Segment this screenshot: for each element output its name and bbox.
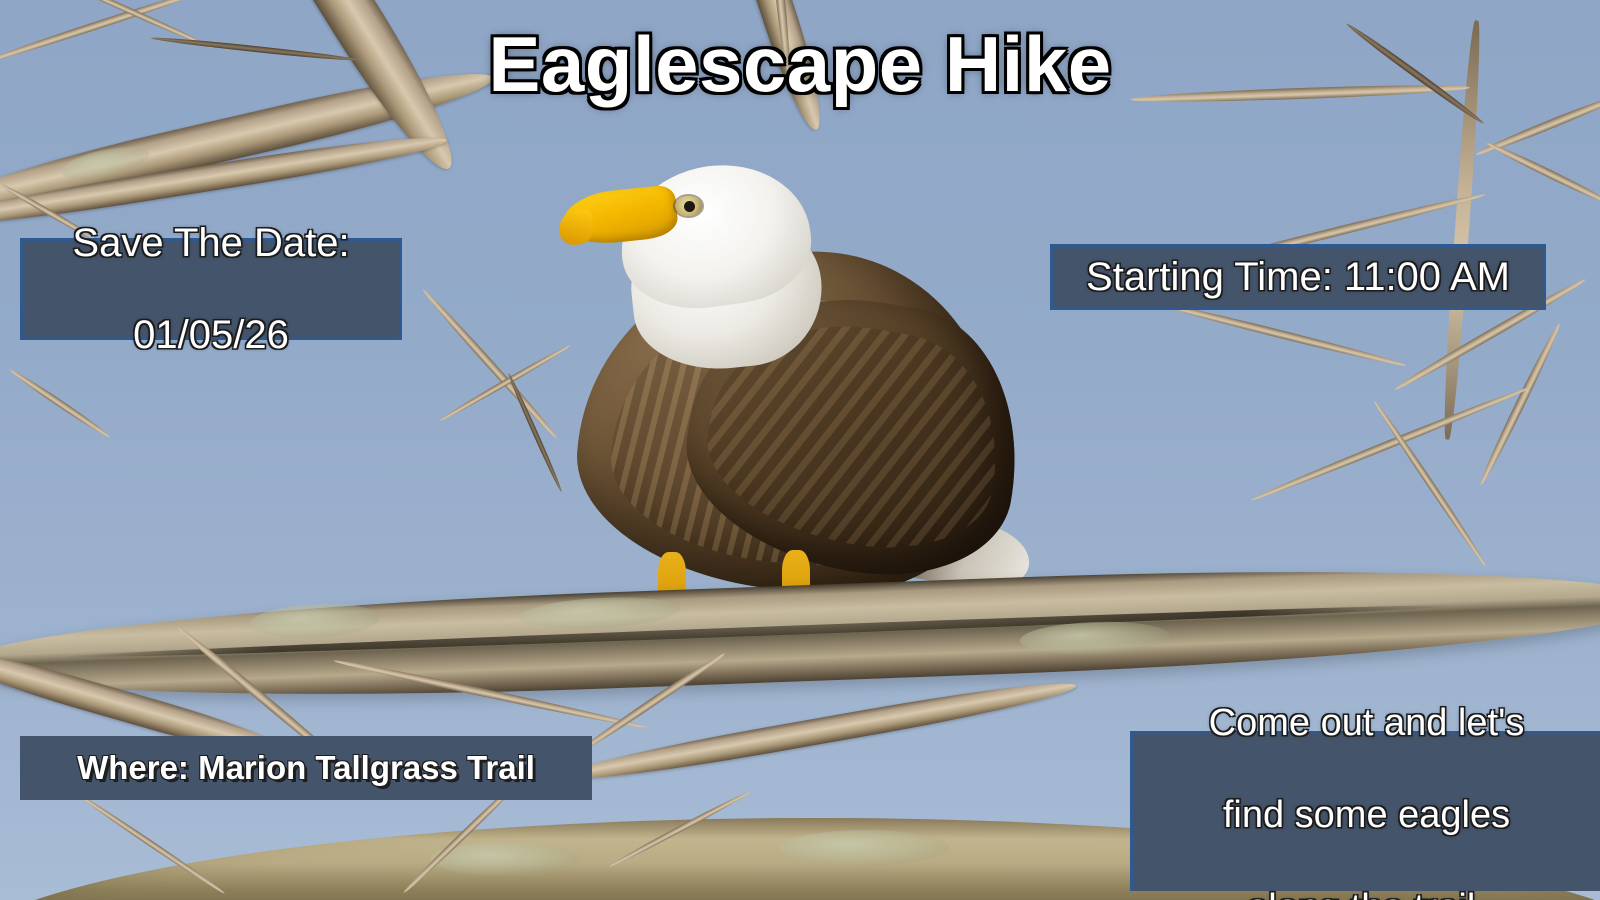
- twig-right-lower-6: [1249, 384, 1530, 504]
- message-line3: along the trail.: [1147, 885, 1586, 900]
- starting-time-text: Starting Time: 11:00 AM: [1053, 255, 1543, 300]
- message-line2: find some eagles: [1147, 792, 1586, 838]
- save-the-date-box: Save The Date:01/05/26: [20, 238, 402, 340]
- location-text: Where: Marion Tallgrass Trail: [20, 749, 592, 787]
- save-the-date-text: Save The Date:01/05/26: [23, 220, 399, 358]
- eagle-eye: [675, 196, 702, 216]
- twig-right-lower-2: [1485, 140, 1600, 209]
- message-text: Come out and let'sfind some eaglesalong …: [1147, 700, 1586, 900]
- save-the-date-line2: 01/05/26: [23, 312, 399, 358]
- location-box: Where: Marion Tallgrass Trail: [20, 736, 592, 800]
- message-box: Come out and let'sfind some eaglesalong …: [1130, 731, 1600, 891]
- starting-time-box: Starting Time: 11:00 AM: [1050, 244, 1546, 310]
- branch-lower-right: [562, 673, 1079, 789]
- event-poster: Eaglescape Hike Save The Date:01/05/26 S…: [0, 0, 1600, 900]
- bald-eagle: [540, 160, 1080, 630]
- page-title: Eaglescape Hike: [0, 24, 1600, 106]
- save-the-date-line1: Save The Date:: [23, 220, 399, 266]
- message-line1: Come out and let's: [1147, 700, 1586, 746]
- twig-mid-left-4: [8, 367, 111, 440]
